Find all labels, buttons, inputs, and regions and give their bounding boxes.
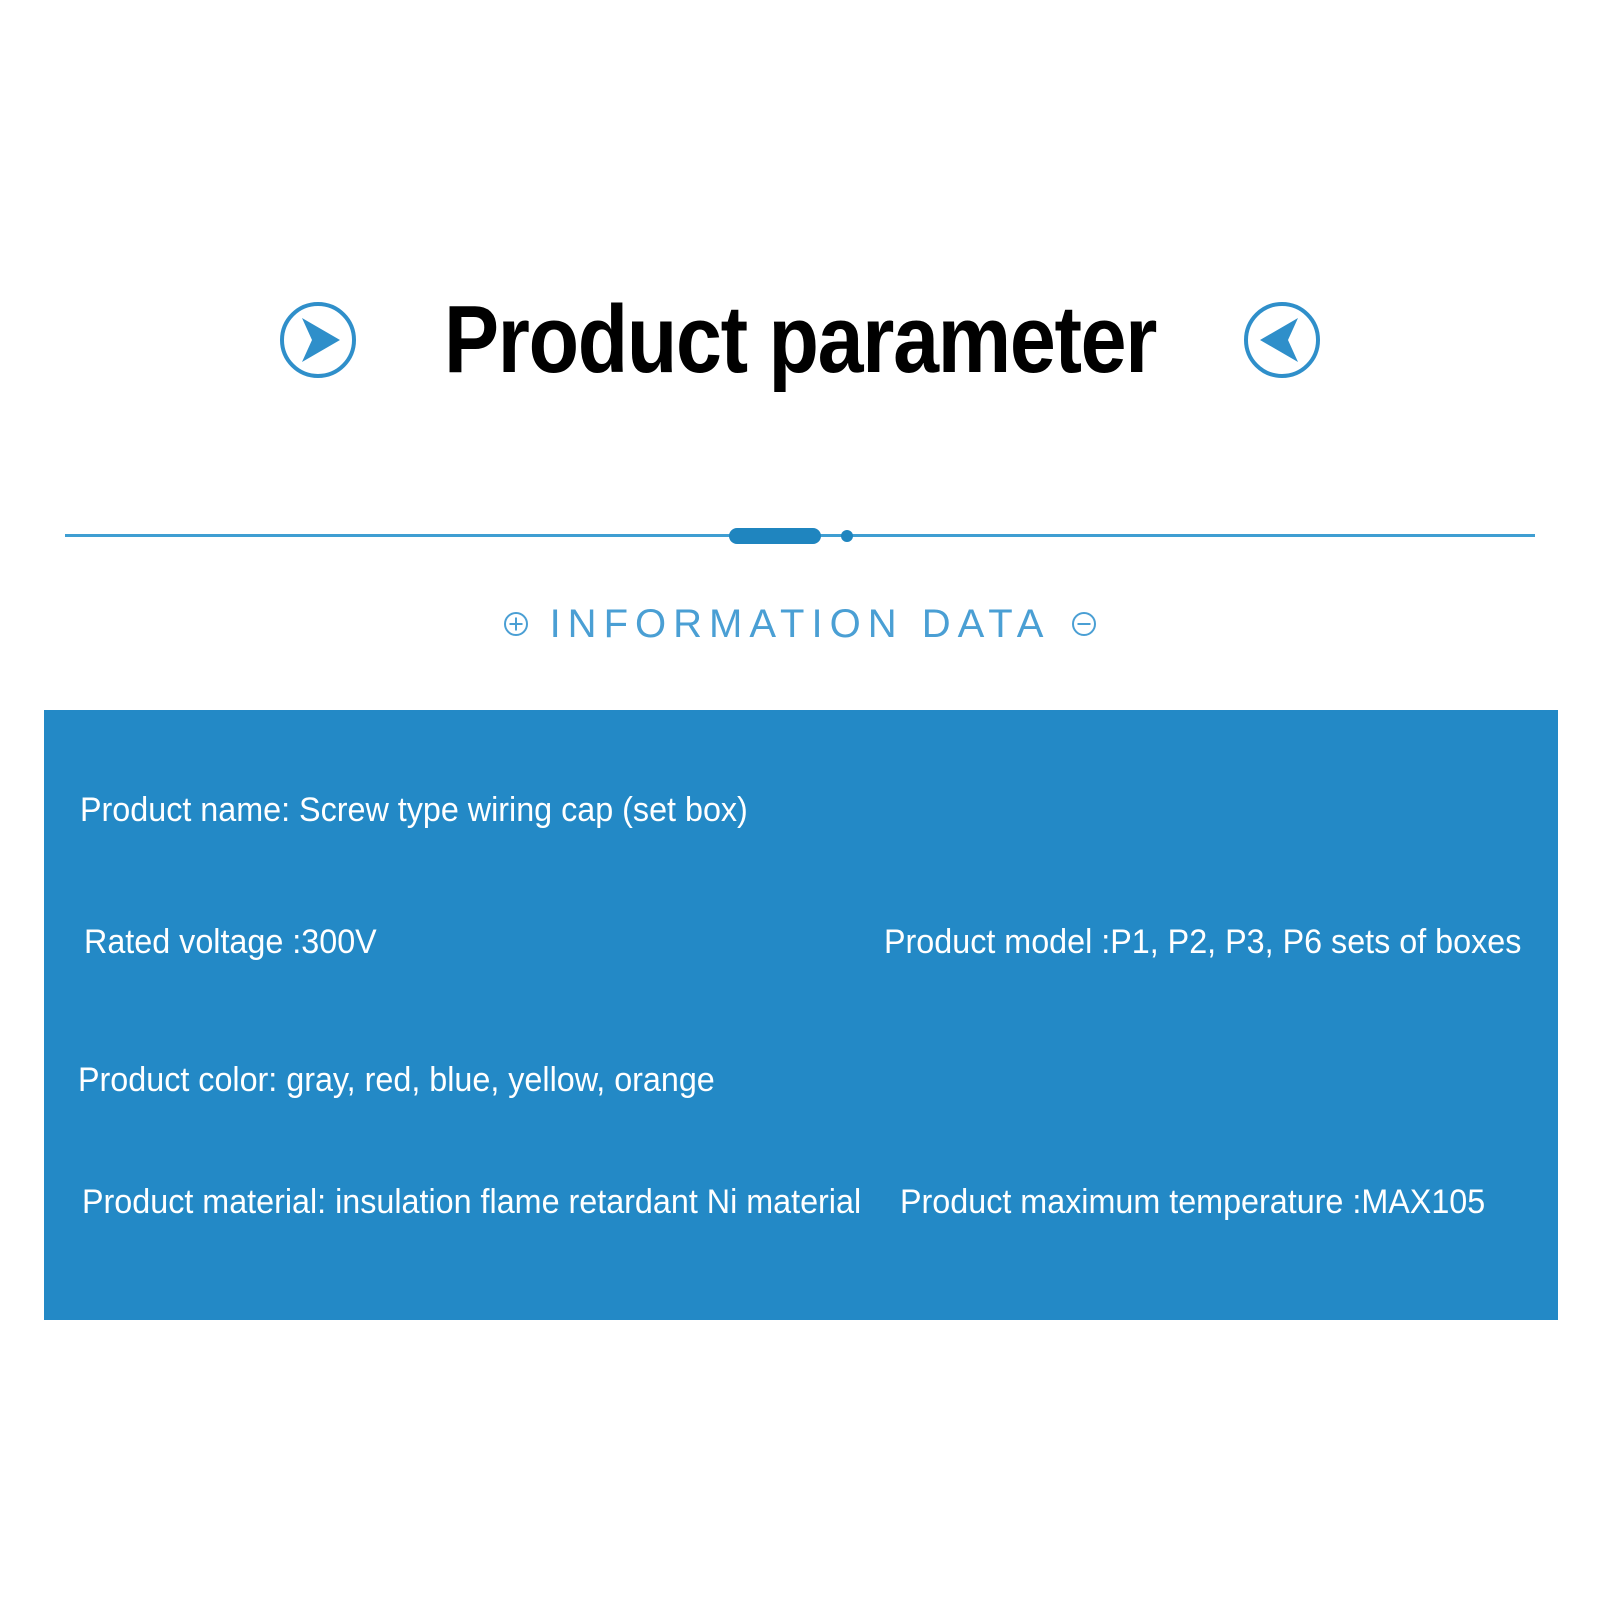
circled-arrow-right-icon (276, 298, 360, 382)
page-title: Product parameter (444, 292, 1156, 388)
divider-dot (841, 530, 853, 542)
info-product-model: Product model :P1, P2, P3, P6 sets of bo… (884, 924, 1521, 961)
info-row: Product material: insulation flame retar… (44, 1180, 1558, 1226)
info-max-temperature: Product maximum temperature :MAX105 (900, 1184, 1485, 1221)
divider (65, 520, 1535, 552)
page-title-row: Product parameter (0, 285, 1600, 395)
circled-minus-icon (1070, 610, 1098, 638)
info-product-material: Product material: insulation flame retar… (82, 1184, 861, 1221)
info-product-name: Product name: Screw type wiring cap (set… (80, 792, 748, 829)
section-label-row: INFORMATION DATA (0, 604, 1600, 644)
divider-pill (729, 528, 821, 544)
info-rated-voltage: Rated voltage :300V (84, 924, 377, 961)
info-row: Rated voltage :300V Product model :P1, P… (44, 920, 1558, 966)
section-label: INFORMATION DATA (550, 604, 1051, 644)
info-row: Product color: gray, red, blue, yellow, … (44, 1058, 1558, 1104)
info-row: Product name: Screw type wiring cap (set… (44, 788, 1558, 834)
circled-arrow-left-icon (1240, 298, 1324, 382)
circled-plus-icon (502, 610, 530, 638)
product-parameter-page: Product parameter INFORMATION DATA (0, 0, 1600, 1600)
info-product-color: Product color: gray, red, blue, yellow, … (78, 1062, 715, 1099)
information-data-panel: Product name: Screw type wiring cap (set… (44, 710, 1558, 1320)
